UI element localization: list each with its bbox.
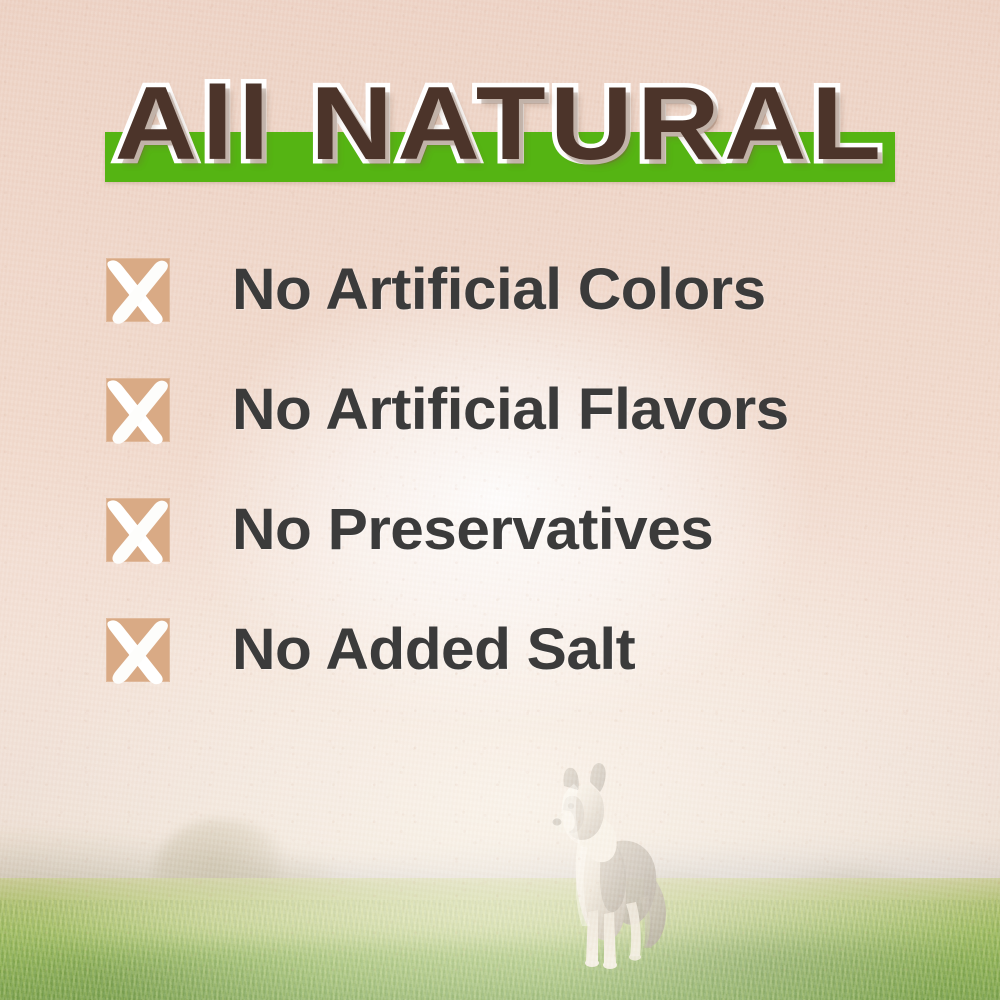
claim-row-no-artificial-flavors: No Artificial Flavors <box>106 378 940 442</box>
claim-row-no-added-salt: No Added Salt <box>106 618 940 682</box>
x-mark-icon <box>106 618 170 682</box>
x-mark-icon <box>106 378 170 442</box>
claim-label: No Preservatives <box>232 501 713 559</box>
claims-list: No Artificial Colors No Artificial Flavo… <box>106 258 940 682</box>
all-natural-poster: All NATURAL No Artificial Colors <box>0 0 1000 1000</box>
claim-label: No Added Salt <box>232 621 635 679</box>
claim-label: No Artificial Colors <box>232 261 766 319</box>
claim-row-no-artificial-colors: No Artificial Colors <box>106 258 940 322</box>
page-title: All NATURAL <box>0 72 1000 176</box>
x-mark-icon <box>106 258 170 322</box>
x-mark-icon <box>106 498 170 562</box>
claim-row-no-preservatives: No Preservatives <box>106 498 940 562</box>
claim-label: No Artificial Flavors <box>232 381 789 439</box>
headline-banner: All NATURAL <box>0 72 1000 192</box>
poster-content: All NATURAL No Artificial Colors <box>0 0 1000 1000</box>
